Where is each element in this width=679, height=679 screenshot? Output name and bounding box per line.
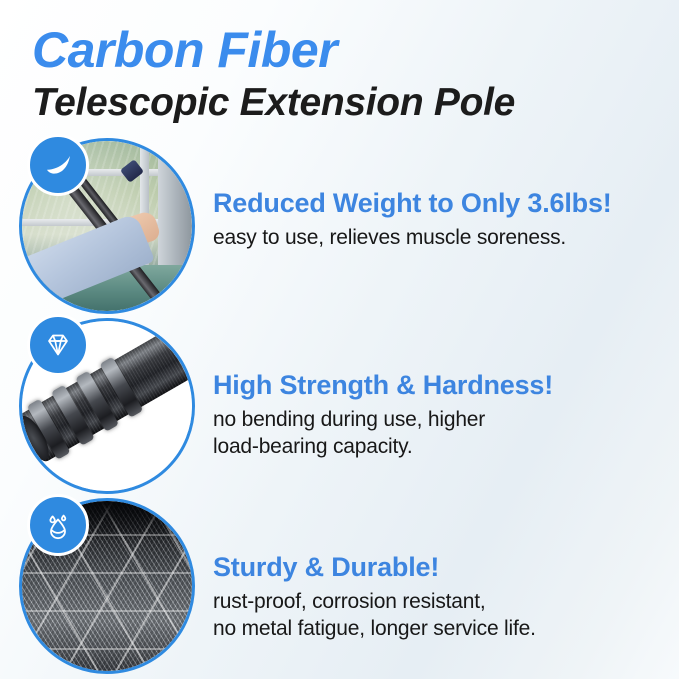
feature-1-body: easy to use, relieves muscle soreness. [213, 224, 669, 251]
feature-1-text: Reduced Weight to Only 3.6lbs! easy to u… [213, 188, 669, 251]
product-feature-poster: Carbon Fiber Telescopic Extension Pole [0, 0, 679, 679]
feature-row-2: High Strength & Hardness! no bending dur… [0, 316, 679, 496]
feature-1-media [19, 138, 195, 314]
water-drop-icon [27, 494, 89, 556]
page-title: Carbon Fiber [32, 22, 652, 78]
poster-header: Carbon Fiber Telescopic Extension Pole [32, 22, 652, 126]
feature-3-body: rust-proof, corrosion resistant, no meta… [213, 588, 669, 642]
feature-2-media [19, 318, 195, 494]
feature-3-media [19, 498, 195, 674]
feature-row-1: Reduced Weight to Only 3.6lbs! easy to u… [0, 136, 679, 316]
feature-2-text: High Strength & Hardness! no bending dur… [213, 370, 669, 460]
feature-3-heading: Sturdy & Durable! [213, 552, 669, 583]
feature-3-body-line-2: no metal fatigue, longer service life. [213, 615, 669, 642]
feature-2-body: no bending during use, higher load-beari… [213, 406, 669, 460]
feature-2-body-line-2: load-bearing capacity. [213, 433, 669, 460]
feather-icon [27, 134, 89, 196]
feature-3-text: Sturdy & Durable! rust-proof, corrosion … [213, 552, 669, 642]
feature-3-body-line-1: rust-proof, corrosion resistant, [213, 588, 669, 615]
feature-2-body-line-1: no bending during use, higher [213, 406, 669, 433]
diamond-icon [27, 314, 89, 376]
feature-1-heading: Reduced Weight to Only 3.6lbs! [213, 188, 669, 219]
feature-1-body-line-1: easy to use, relieves muscle soreness. [213, 224, 669, 251]
feature-row-3: Sturdy & Durable! rust-proof, corrosion … [0, 496, 679, 676]
feature-2-heading: High Strength & Hardness! [213, 370, 669, 401]
page-subtitle: Telescopic Extension Pole [32, 80, 652, 126]
